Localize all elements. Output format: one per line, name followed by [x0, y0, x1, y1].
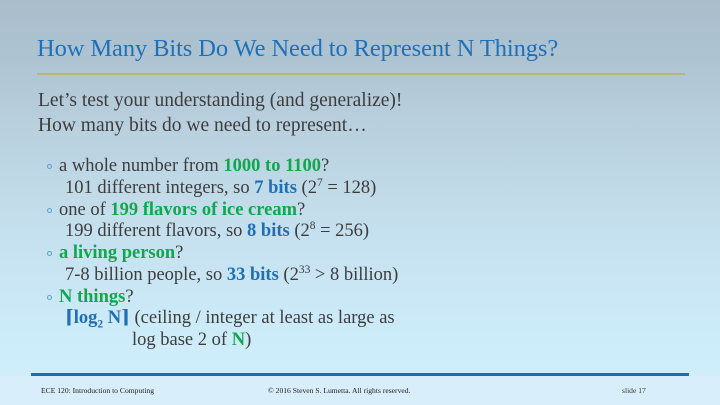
bullet-head-highlight: a living person	[59, 243, 175, 263]
bullet-sub-paren-close: > 8 billion)	[310, 265, 398, 285]
explanation-prefix: log base 2 of	[132, 330, 232, 350]
slide-footer: ECE 120: Introduction to Computing © 201…	[0, 376, 720, 405]
footer-slide-number: slide 17	[622, 376, 646, 405]
footer-copyright-label: © 2016 Steven S. Lumetta. All rights res…	[268, 376, 410, 405]
ceiling-formula-open: ⌈log	[65, 308, 97, 328]
bullet-head-suffix: ?	[297, 200, 305, 220]
slide-canvas: How Many Bits Do We Need to Represent N …	[0, 0, 720, 405]
bullet-sub-prefix: 199 different flavors, so	[65, 221, 247, 241]
bullet-head-highlight: N things	[59, 287, 125, 307]
intro-text: Let’s test your understanding (and gener…	[38, 89, 698, 138]
bullet-formula-explanation-line-2: log base 2 of N)	[44, 330, 714, 352]
hollow-circle-bullet-icon	[47, 164, 52, 169]
bullet-subline: 7-8 billion people, so 33 bits (233 > 8 …	[44, 265, 714, 287]
formula-explanation-line-1: (ceiling / integer at least as large as	[130, 308, 395, 328]
bullet-sub-prefix: 7-8 billion people, so	[65, 265, 227, 285]
bullet-sub-paren-open: (2	[290, 221, 310, 241]
bullet-sub-highlight: 7 bits	[254, 178, 297, 198]
bullet-head-prefix: one of	[59, 200, 110, 220]
bullet-headline: a living person?	[44, 243, 714, 265]
bullet-sub-highlight: 8 bits	[247, 221, 290, 241]
bullet-sub-paren-open: (2	[279, 265, 299, 285]
explanation-variable: N	[232, 330, 245, 350]
bullet-list: a whole number from 1000 to 1100? 101 di…	[44, 156, 714, 352]
bullet-subline: 199 different flavors, so 8 bits (28 = 2…	[44, 221, 714, 243]
slide-title: How Many Bits Do We Need to Represent N …	[37, 34, 697, 64]
intro-line-2: How many bits do we need to represent…	[38, 114, 698, 139]
bullet-sub-highlight: 33 bits	[227, 265, 279, 285]
hollow-circle-bullet-icon	[47, 251, 52, 256]
bullet-formula-line: ⌈log2 N⌉ (ceiling / integer at least as …	[44, 308, 714, 330]
bullet-sub-prefix: 101 different integers, so	[65, 178, 254, 198]
bullet-head-prefix: a whole number from	[59, 156, 223, 176]
bullet-headline: N things?	[44, 287, 714, 309]
bullet-headline: a whole number from 1000 to 1100?	[44, 156, 714, 178]
hollow-circle-bullet-icon	[47, 295, 52, 300]
bullet-subline: 101 different integers, so 7 bits (27 = …	[44, 178, 714, 200]
bullet-sub-exponent: 33	[299, 263, 310, 275]
hollow-circle-bullet-icon	[47, 208, 52, 213]
bullet-sub-paren-close: = 128)	[323, 178, 377, 198]
intro-line-1: Let’s test your understanding (and gener…	[38, 89, 698, 114]
title-divider-rule	[37, 73, 685, 75]
bullet-sub-paren-close: = 256)	[316, 221, 370, 241]
bullet-head-suffix: ?	[125, 287, 133, 307]
bullet-headline: one of 199 flavors of ice cream?	[44, 200, 714, 222]
list-item: a living person? 7-8 billion people, so …	[44, 243, 714, 286]
bullet-sub-paren-open: (2	[297, 178, 317, 198]
bullet-head-highlight: 199 flavors of ice cream	[110, 200, 297, 220]
bullet-head-suffix: ?	[175, 243, 183, 263]
ceiling-formula-variable: N⌉	[103, 308, 130, 328]
footer-course-label: ECE 120: Introduction to Computing	[41, 376, 154, 405]
list-item: a whole number from 1000 to 1100? 101 di…	[44, 156, 714, 199]
list-item: N things? ⌈log2 N⌉ (ceiling / integer at…	[44, 287, 714, 352]
explanation-suffix: )	[245, 330, 251, 350]
bullet-head-highlight: 1000 to 1100	[223, 156, 321, 176]
bullet-head-suffix: ?	[321, 156, 329, 176]
list-item: one of 199 flavors of ice cream? 199 dif…	[44, 200, 714, 243]
